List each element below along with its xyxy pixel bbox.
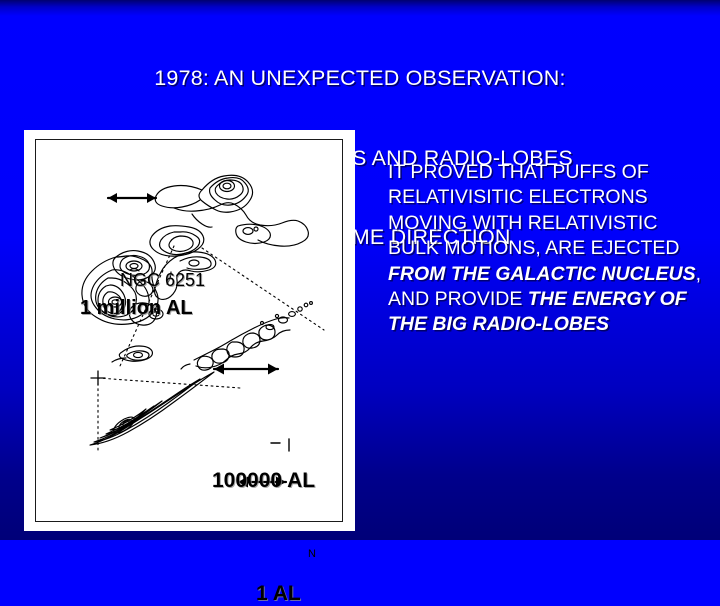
- body-segment-1: FROM THE GALACTIC NUCLEUS: [388, 263, 696, 285]
- compass-north-label: N: [308, 548, 316, 560]
- title-line-1: 1978: AN UNEXPECTED OBSERVATION:: [0, 65, 720, 92]
- scale-arrow-1-million: [108, 193, 156, 203]
- scale-label-1-al: 1 AL: [256, 582, 301, 606]
- scale-label-100000: 100000 AL: [212, 469, 315, 493]
- slide-body-text: IT PROVED THAT PUFFS OF RELATIVISITIC EL…: [388, 160, 706, 338]
- compass-rose: [271, 439, 289, 451]
- scale-label-1-million: 1 million AL: [80, 297, 193, 320]
- slide-canvas: 1978: AN UNEXPECTED OBSERVATION: JETS AT…: [0, 0, 720, 540]
- body-segment-0: IT PROVED THAT PUFFS OF RELATIVISITIC EL…: [388, 161, 679, 259]
- scale-arrow-100000: [214, 364, 278, 375]
- figure-object-label: NGC 6251: [120, 270, 205, 291]
- figure-panel: NGC 6251 1 million AL 100000 AL 1 AL N: [24, 130, 355, 531]
